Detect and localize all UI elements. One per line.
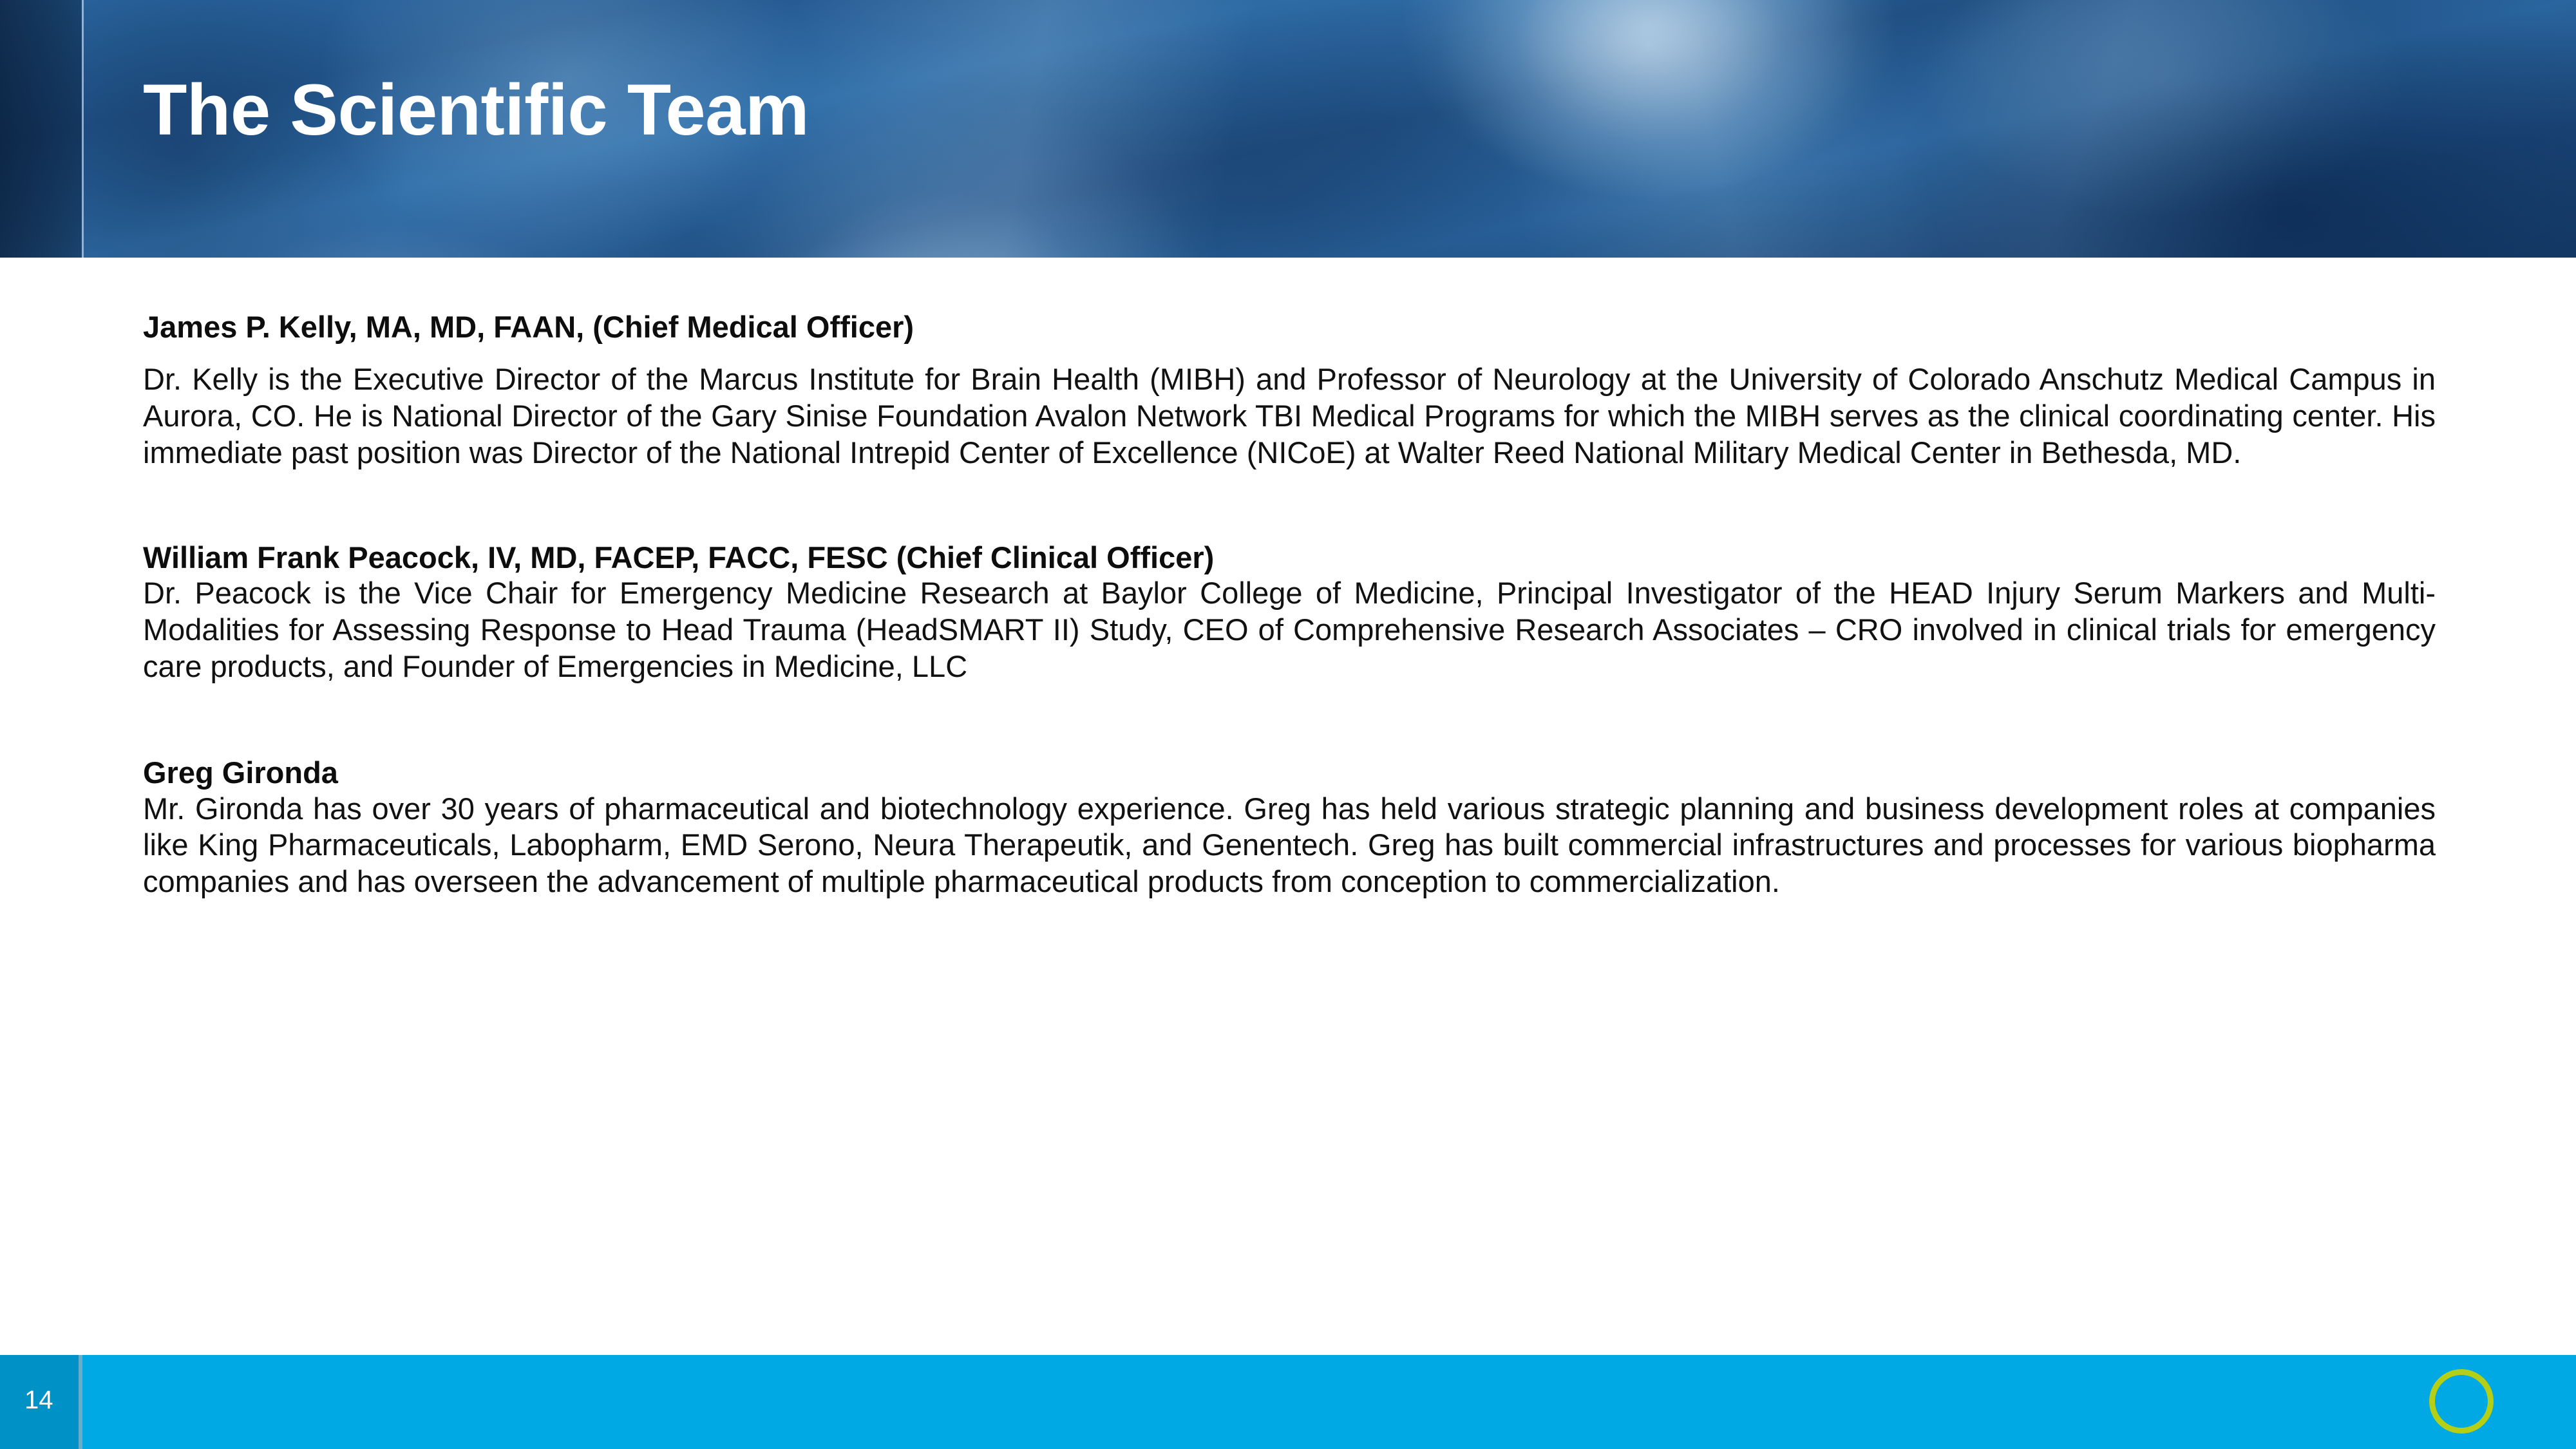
spacer: [143, 471, 2436, 540]
bio-name-kelly: James P. Kelly, MA, MD, FAAN, (Chief Med…: [143, 309, 2436, 345]
footer-divider-line: [79, 1355, 82, 1449]
spacer: [143, 345, 2436, 361]
header-left-shade: [0, 0, 82, 258]
bio-block-gironda: Greg Gironda Mr. Gironda has over 30 yea…: [143, 755, 2436, 900]
bio-name-peacock: William Frank Peacock, IV, MD, FACEP, FA…: [143, 540, 2436, 575]
slide-title: The Scientific Team: [143, 74, 809, 146]
page-number: 14: [24, 1387, 53, 1413]
bio-body-gironda: Mr. Gironda has over 30 years of pharmac…: [143, 791, 2436, 901]
footer-bar: 14: [0, 1355, 2576, 1449]
bio-body-kelly: Dr. Kelly is the Executive Director of t…: [143, 361, 2436, 471]
header-divider-line: [82, 0, 84, 258]
header-banner: The Scientific Team: [0, 0, 2576, 258]
bio-block-peacock: William Frank Peacock, IV, MD, FACEP, FA…: [143, 540, 2436, 685]
slide-content: James P. Kelly, MA, MD, FAAN, (Chief Med…: [143, 309, 2436, 900]
bio-name-gironda: Greg Gironda: [143, 755, 2436, 790]
bio-block-kelly: James P. Kelly, MA, MD, FAAN, (Chief Med…: [143, 309, 2436, 471]
spacer: [143, 685, 2436, 755]
logo-ring-icon: [2429, 1369, 2494, 1434]
bio-body-peacock: Dr. Peacock is the Vice Chair for Emerge…: [143, 575, 2436, 685]
